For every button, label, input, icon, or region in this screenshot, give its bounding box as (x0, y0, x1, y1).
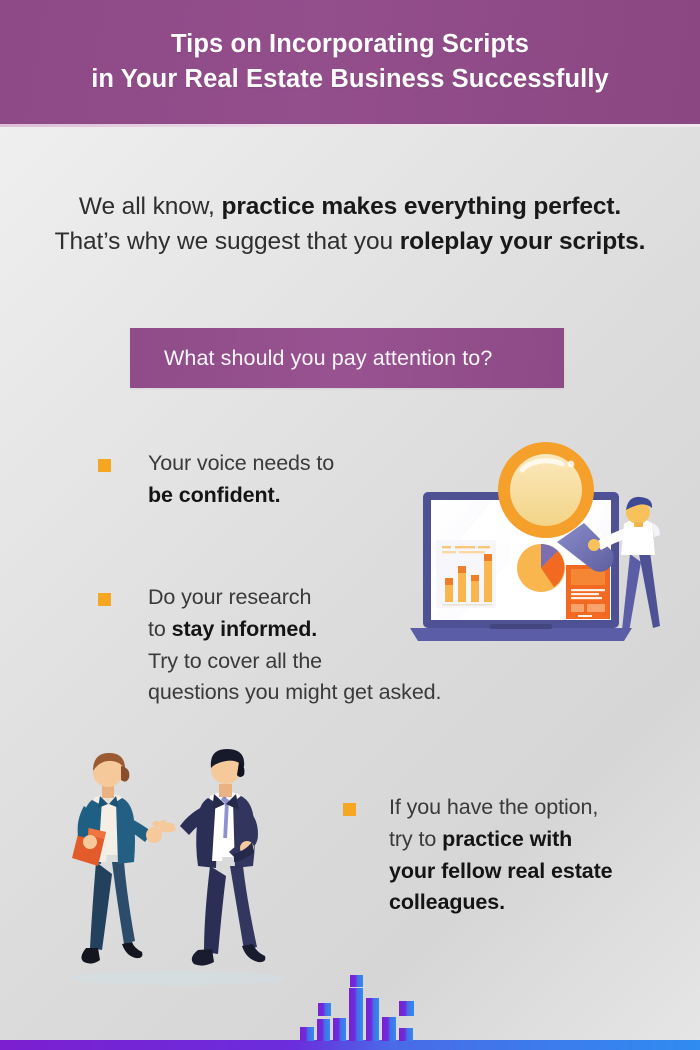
bullet-3-line-2-bold: practice with (442, 827, 572, 851)
header-banner: Tips on Incorporating Scripts in Your Re… (0, 0, 700, 124)
bullet-item-1: Your voice needs to be confident. (98, 448, 428, 512)
bullet-1-line-1-plain: Your voice needs to (148, 451, 334, 475)
page-title: Tips on Incorporating Scripts in Your Re… (91, 27, 609, 97)
infographic-page: Tips on Incorporating Scripts in Your Re… (0, 0, 700, 1050)
bullet-3-line-3: your fellow real estate (389, 856, 613, 888)
bullet-3-line-2-plain: try to (389, 827, 442, 851)
bar-chart-card (436, 540, 496, 608)
bullet-item-1-text: Your voice needs to be confident. (148, 448, 334, 512)
bullet-3-line-4: colleagues. (389, 887, 613, 919)
bullet-2-line-4: questions you might get asked. (148, 677, 441, 709)
bullet-3-line-3-bold: your fellow real estate (389, 859, 613, 883)
intro-line-2-bold: roleplay your scripts. (400, 228, 646, 255)
woman-with-folder (72, 753, 162, 964)
intro-paragraph: We all know, practice makes everything p… (0, 190, 700, 260)
intro-line-1-bold: practice makes everything perfect. (221, 193, 621, 220)
question-callout-box: What should you pay attention to? (130, 328, 564, 388)
page-title-line-1: Tips on Incorporating Scripts (171, 30, 529, 58)
bullet-2-line-4-plain: questions you might get asked. (148, 680, 441, 704)
bullet-item-3: If you have the option, try to practice … (343, 792, 673, 919)
square-bullet-icon (343, 803, 356, 816)
intro-line-1: We all know, practice makes everything p… (0, 190, 700, 225)
bullet-2-line-2-plain: to (148, 617, 172, 641)
laptop-magnifier-analytics-illustration (398, 428, 690, 650)
man-in-suit (157, 749, 265, 966)
bullet-2-line-1-plain: Do your research (148, 585, 311, 609)
bullet-3-line-2: try to practice with (389, 824, 613, 856)
bullet-1-line-2-bold: be confident. (148, 483, 280, 507)
bullet-2-line-3: Try to cover all the (148, 646, 441, 678)
bullet-1-line-2: be confident. (148, 480, 334, 512)
bullet-2-line-3-plain: Try to cover all the (148, 649, 322, 673)
bullet-item-3-text: If you have the option, try to practice … (389, 792, 613, 919)
bullet-1-line-1: Your voice needs to (148, 448, 334, 480)
bullet-2-line-2-bold: stay informed. (172, 617, 318, 641)
gradient-bar-chart-footer (0, 972, 700, 1050)
bullet-3-line-1: If you have the option, (389, 792, 613, 824)
bullet-3-line-1-plain: If you have the option, (389, 795, 598, 819)
square-bullet-icon (98, 459, 111, 472)
question-callout-text: What should you pay attention to? (130, 346, 492, 371)
intro-line-1-plain: We all know, (79, 193, 222, 220)
square-bullet-icon (98, 593, 111, 606)
intro-line-2-plain: That’s why we suggest that you (55, 228, 400, 255)
intro-line-2: That’s why we suggest that you roleplay … (0, 225, 700, 260)
page-title-line-2: in Your Real Estate Business Successfull… (91, 62, 609, 97)
bullet-3-line-4-bold: colleagues. (389, 890, 505, 914)
header-bottom-edge (0, 124, 700, 127)
orange-document-card (566, 565, 610, 619)
two-business-people-illustration (58, 738, 304, 990)
